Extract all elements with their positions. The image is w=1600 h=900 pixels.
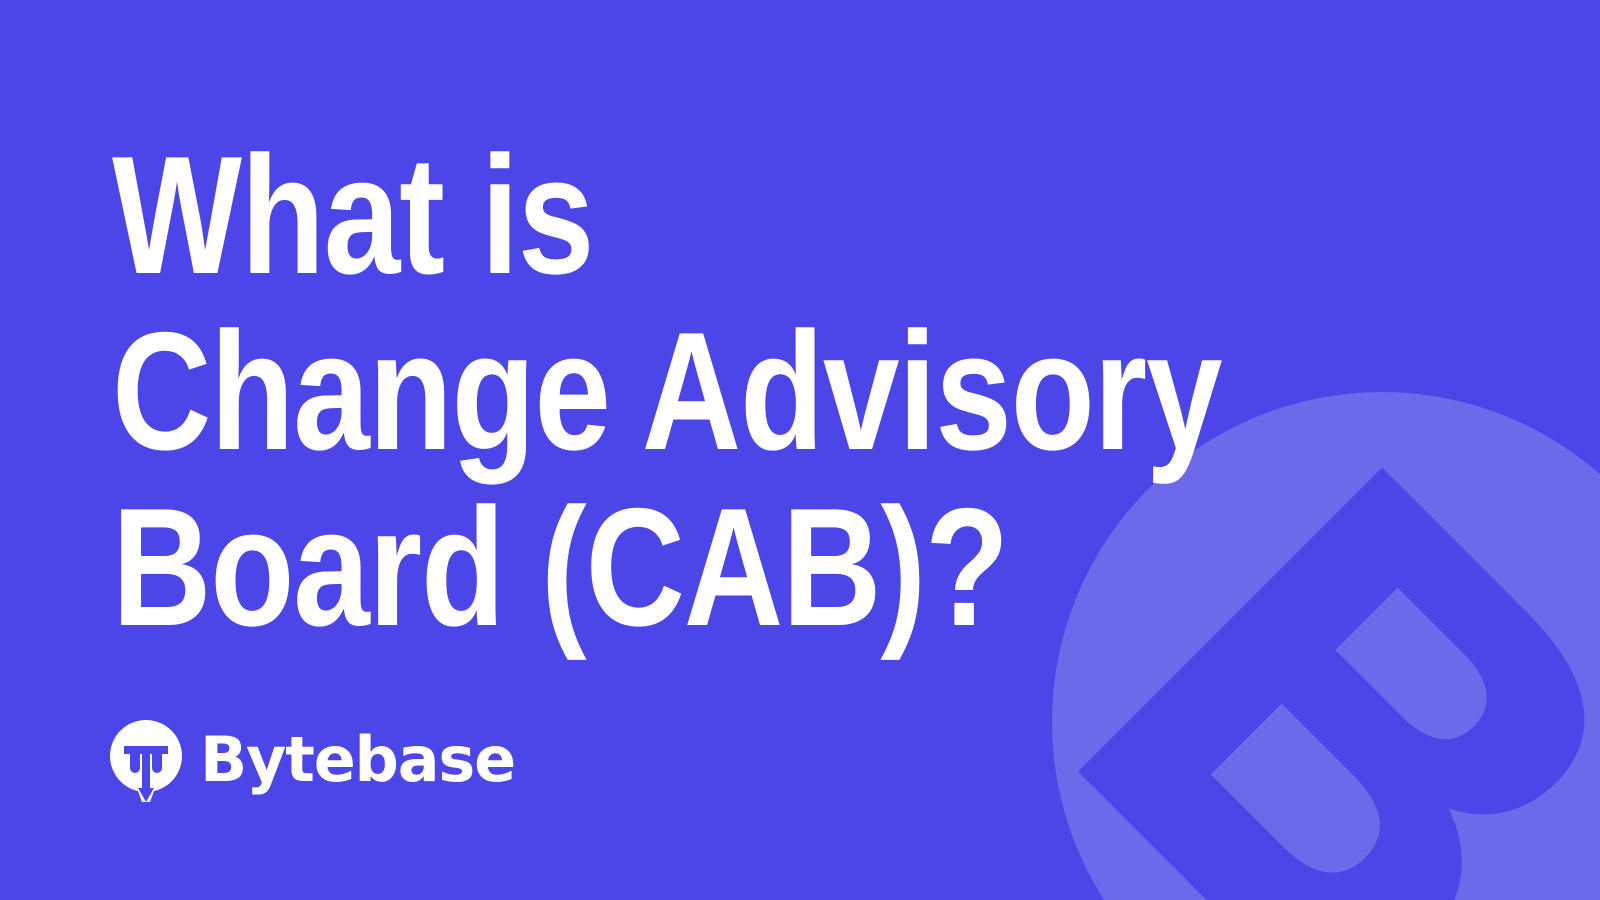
- brand-wordmark: Bytebase: [200, 729, 515, 791]
- headline-line-3: Board (CAB)?: [112, 479, 948, 655]
- headline-line-2: Change Advisory: [112, 303, 948, 479]
- page-title: What is Change Advisory Board (CAB)?: [112, 127, 1132, 655]
- bytebase-logo-icon: [108, 718, 184, 802]
- headline-line-1: What is: [112, 127, 948, 303]
- brand-logo-lockup: Bytebase: [108, 718, 515, 802]
- slide-canvas: What is Change Advisory Board (CAB)?: [0, 0, 1600, 900]
